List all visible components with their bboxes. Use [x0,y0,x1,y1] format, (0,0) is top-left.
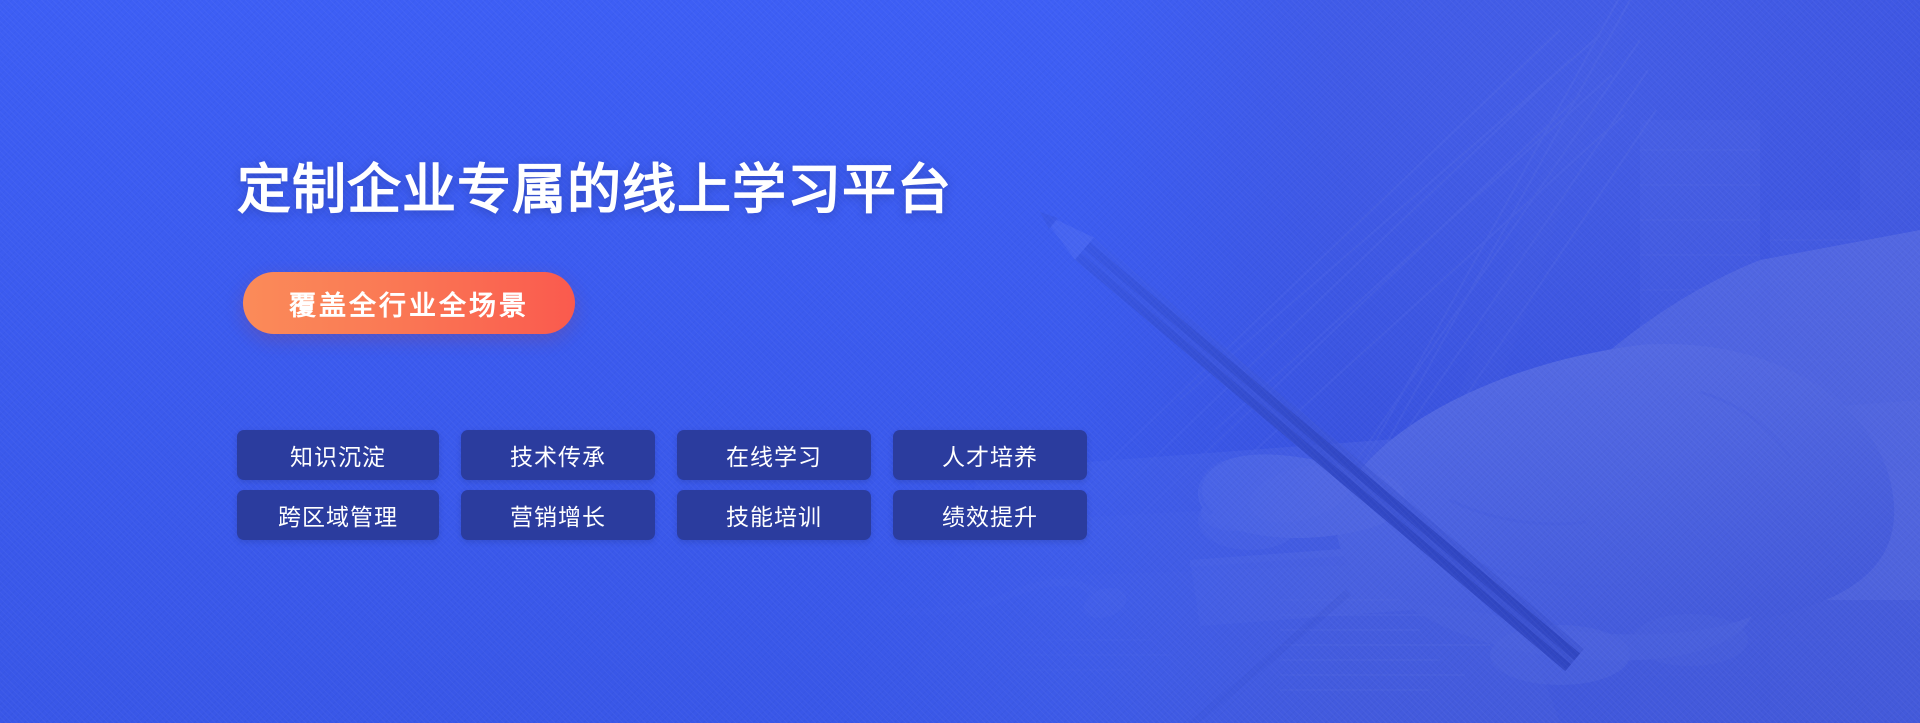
tag-technology-inheritance[interactable]: 技术传承 [461,430,655,480]
tag-cross-region-management[interactable]: 跨区域管理 [237,490,439,540]
banner-content: 定制企业专属的线上学习平台 覆盖全行业全场景 知识沉淀 技术传承 在线学习 人才… [237,0,1237,723]
tag-talent-development[interactable]: 人才培养 [893,430,1087,480]
tag-performance-improvement[interactable]: 绩效提升 [893,490,1087,540]
tag-marketing-growth[interactable]: 营销增长 [461,490,655,540]
tag-online-learning[interactable]: 在线学习 [677,430,871,480]
coverage-cta-pill[interactable]: 覆盖全行业全场景 [243,272,575,334]
tag-knowledge-precipitation[interactable]: 知识沉淀 [237,430,439,480]
tag-skills-training[interactable]: 技能培训 [677,490,871,540]
hero-banner: 定制企业专属的线上学习平台 覆盖全行业全场景 知识沉淀 技术传承 在线学习 人才… [0,0,1920,723]
feature-tag-grid: 知识沉淀 技术传承 在线学习 人才培养 跨区域管理 营销增长 技能培训 绩效提升 [237,430,1087,540]
page-title: 定制企业专属的线上学习平台 [237,160,952,220]
